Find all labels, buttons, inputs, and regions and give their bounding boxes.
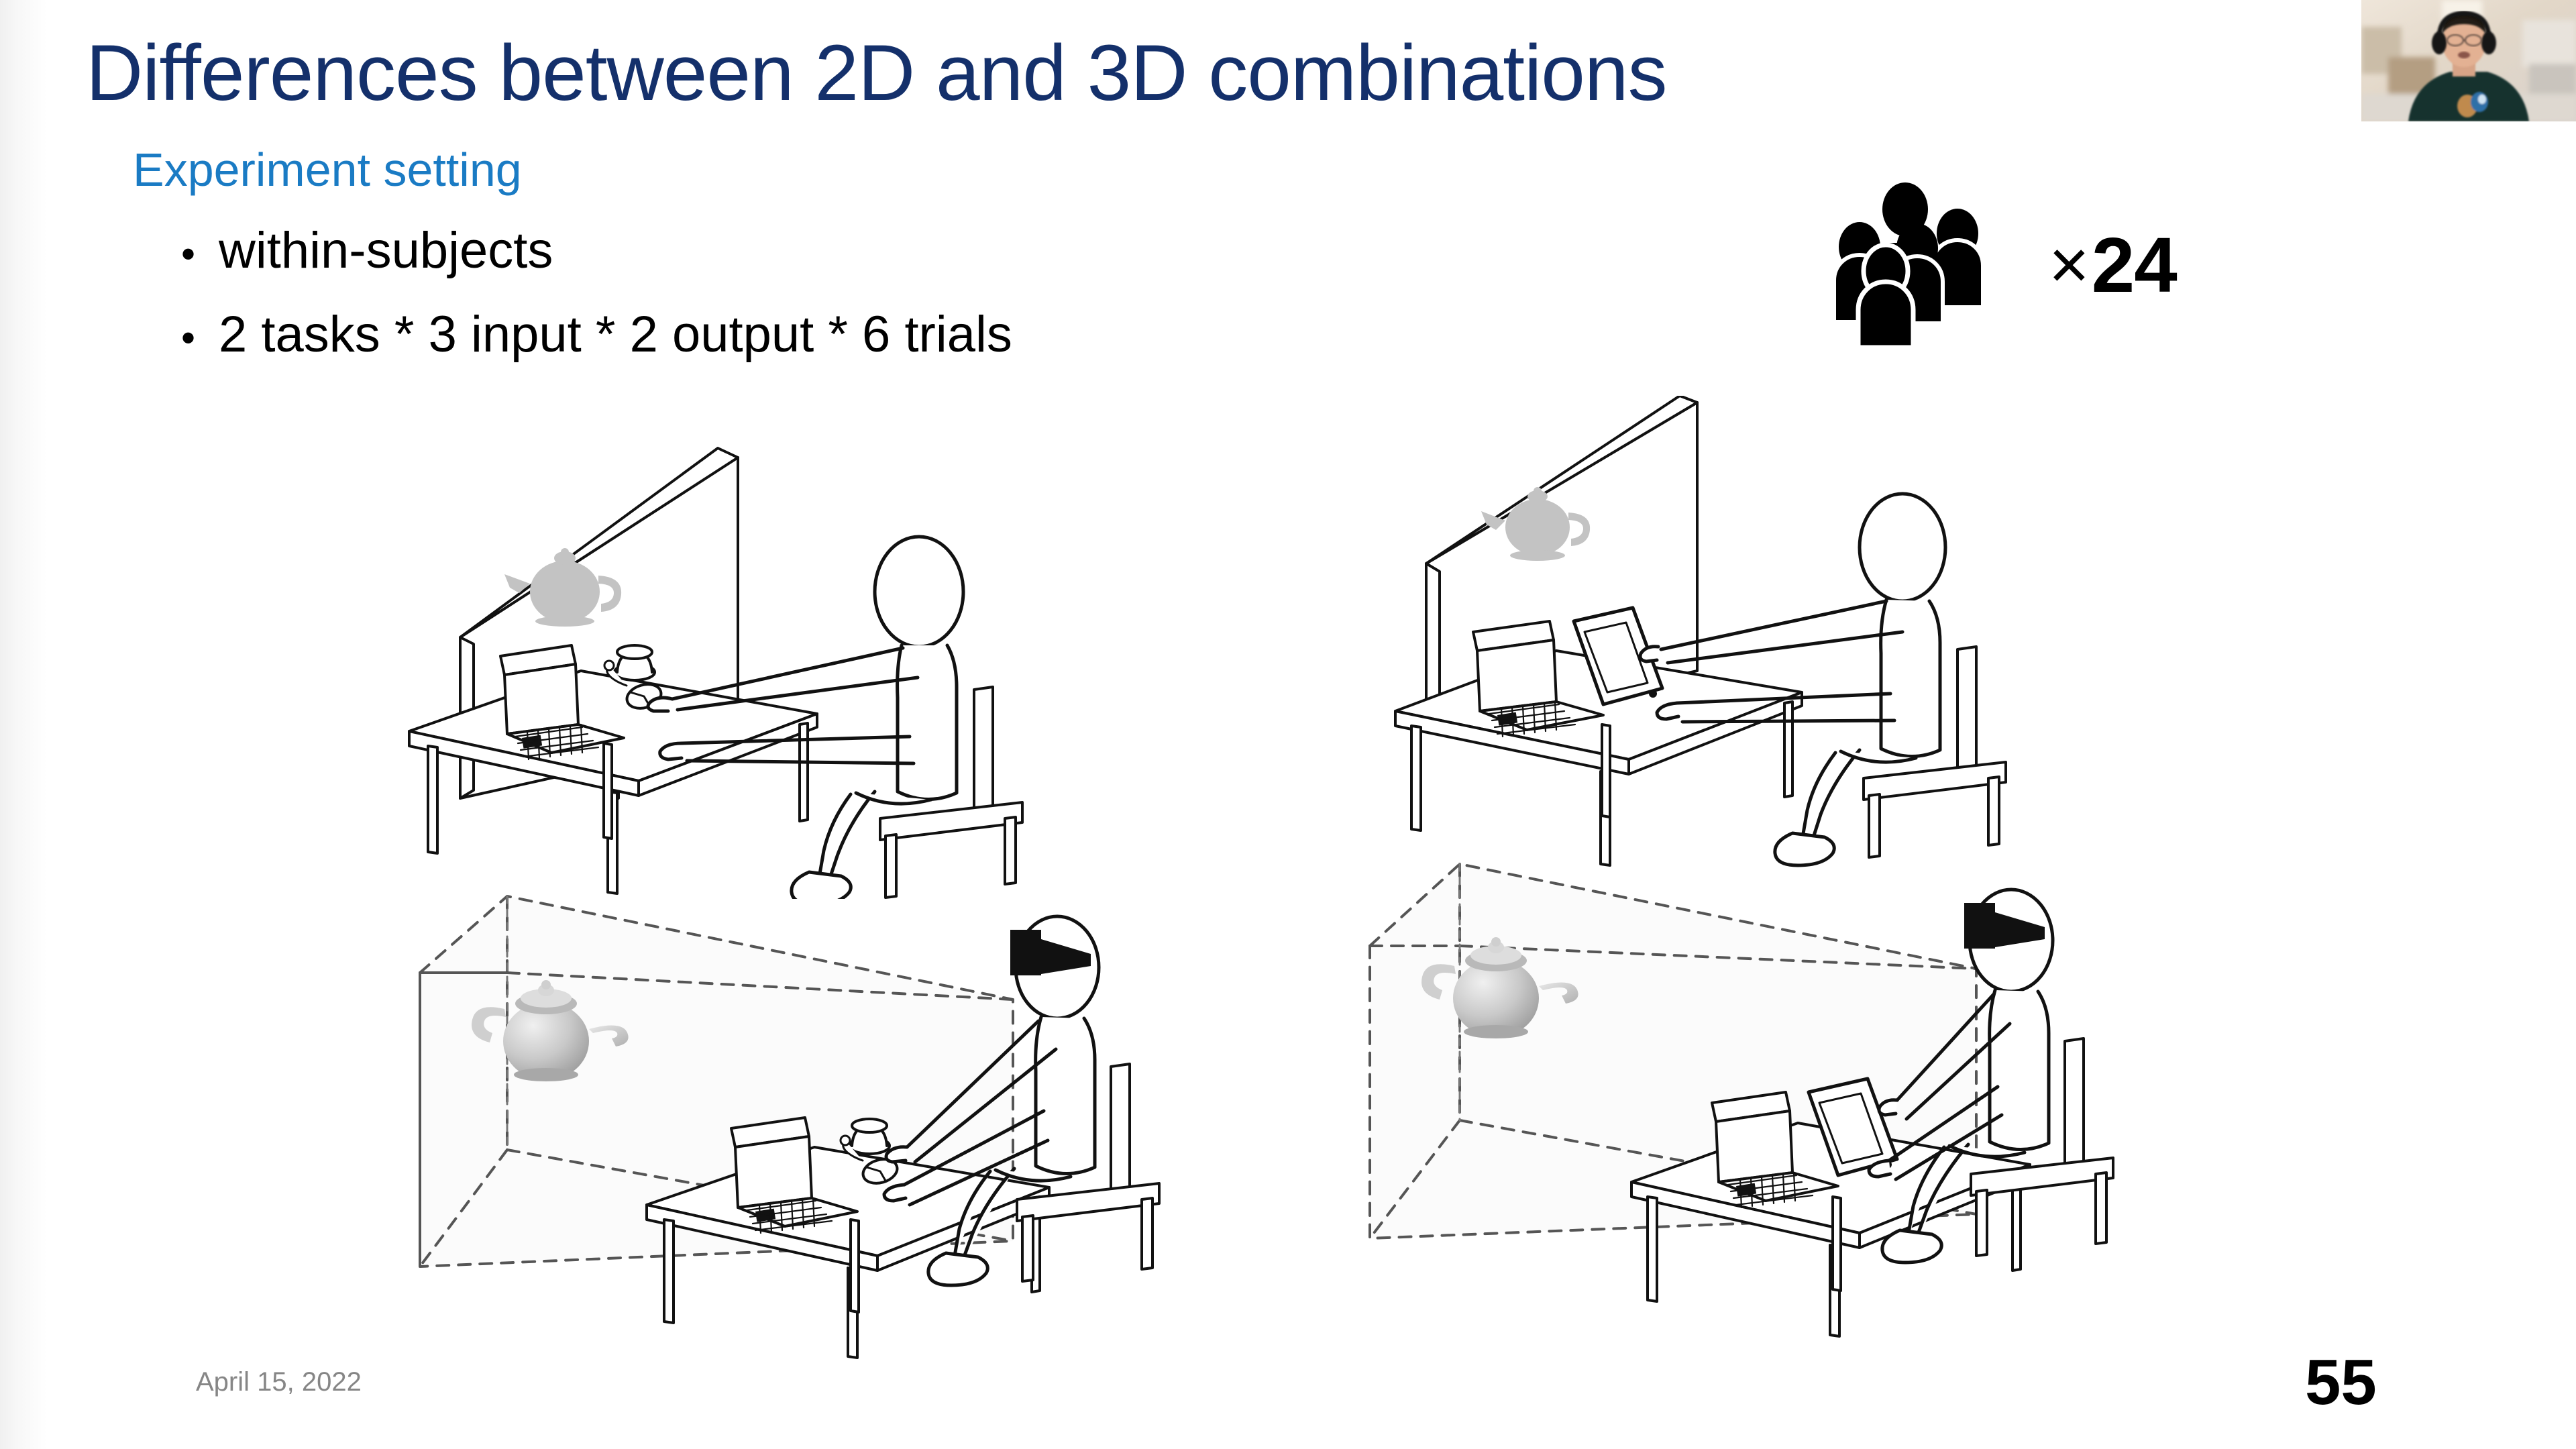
- desk-object: [614, 645, 655, 680]
- scene-2d-display-tablet-input: [1382, 396, 2093, 879]
- multiply-symbol: ×: [2049, 225, 2089, 305]
- scene-3d-display-mouse-input: [376, 865, 1167, 1362]
- participants-number: 24: [2092, 220, 2177, 310]
- people-group-icon: [1818, 181, 2019, 349]
- list-item: • 2 tasks * 3 input * 2 output * 6 trial…: [181, 305, 1590, 364]
- list-item: • within-subjects: [181, 221, 1590, 280]
- scene-3d-display-tablet-input: [1328, 832, 2120, 1342]
- scene-2d-display-mouse-input: [402, 443, 1114, 899]
- bullet-marker-icon: •: [181, 318, 219, 358]
- page-title: Differences between 2D and 3D combinatio…: [86, 32, 1667, 115]
- slide-page-number: 55: [2305, 1346, 2377, 1419]
- desk-object: [849, 1119, 890, 1154]
- bullet-text: within-subjects: [219, 221, 553, 280]
- bullet-list: • within-subjects • 2 tasks * 3 input * …: [181, 221, 1590, 389]
- participants-badge: ×24: [1818, 181, 2177, 349]
- slide-date: April 15, 2022: [196, 1367, 362, 1397]
- participants-count: ×24: [2049, 220, 2177, 310]
- left-edge-shading: [0, 0, 47, 1449]
- presenter-webcam[interactable]: [2361, 0, 2576, 121]
- page-subtitle: Experiment setting: [133, 143, 522, 197]
- bullet-text: 2 tasks * 3 input * 2 output * 6 trials: [219, 305, 1012, 364]
- bullet-marker-icon: •: [181, 234, 219, 274]
